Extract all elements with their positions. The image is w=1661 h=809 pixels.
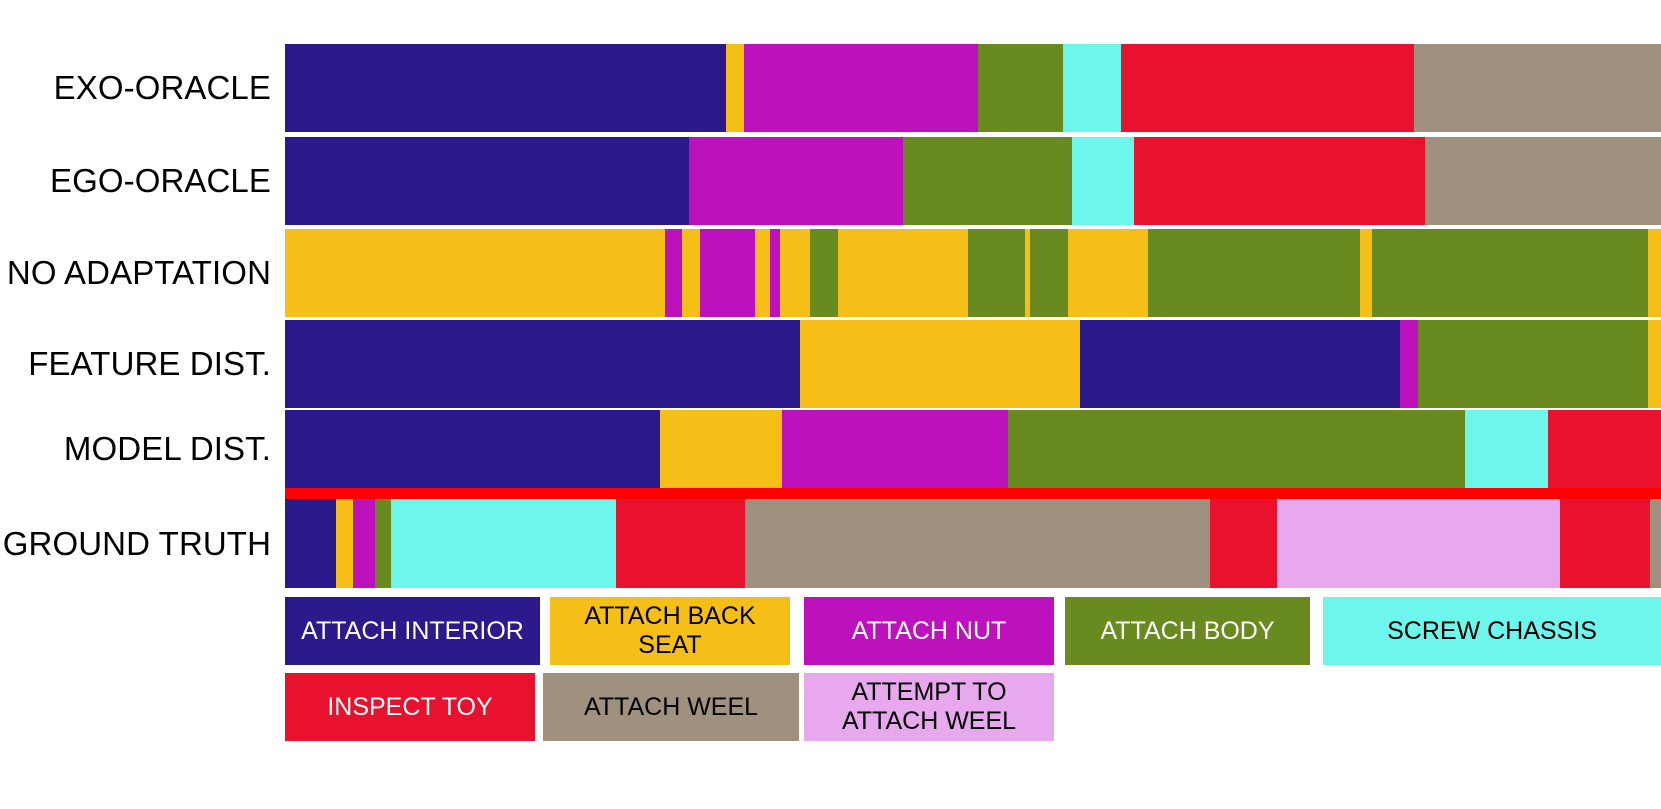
timeline-row: GROUND TRUTH <box>0 499 1661 588</box>
row-label-ego-oracle: EGO-ORACLE <box>50 137 285 225</box>
segment-inspect-toy <box>1134 137 1425 225</box>
segment-inspect-toy <box>616 499 745 588</box>
timeline-row: EGO-ORACLE <box>0 137 1661 225</box>
segment-attach-back-seat <box>1360 229 1372 317</box>
segment-attach-back-seat <box>800 320 1080 408</box>
segment-attach-body <box>1008 410 1465 488</box>
segment-attach-back-seat <box>1648 320 1661 408</box>
row-label-exo-oracle: EXO-ORACLE <box>54 44 285 132</box>
segment-inspect-toy <box>1121 44 1414 132</box>
row-label-ground-truth: GROUND TRUTH <box>3 499 285 588</box>
segment-attach-nut <box>744 44 978 132</box>
timeline-row: NO ADAPTATION <box>0 229 1661 317</box>
timeline-row: FEATURE DIST. <box>0 320 1661 408</box>
legend-item-screw-chassis[interactable]: SCREW CHASSIS <box>1323 597 1661 665</box>
segment-attach-body <box>1372 229 1648 317</box>
legend-item-attempt-to-attach-weel[interactable]: ATTEMPT TO ATTACH WEEL <box>804 673 1054 741</box>
segment-attach-nut <box>1400 320 1418 408</box>
segment-screw-chassis <box>1465 410 1548 488</box>
segment-attach-nut <box>689 137 903 225</box>
segment-attach-interior <box>285 499 336 588</box>
segment-attach-weel <box>1414 44 1661 132</box>
row-label-model-dist: MODEL DIST. <box>64 410 285 488</box>
ground-truth-divider <box>285 488 1661 499</box>
legend-row-1: ATTACH INTERIORATTACH BACK SEATATTACH NU… <box>285 597 1661 665</box>
segment-attach-nut <box>770 229 780 317</box>
segment-attach-body <box>1030 229 1068 317</box>
segment-attach-back-seat <box>682 229 700 317</box>
segment-attach-back-seat <box>755 229 770 317</box>
timeline-row: EXO-ORACLE <box>0 44 1661 132</box>
segment-attach-nut <box>665 229 682 317</box>
segment-screw-chassis <box>1063 44 1121 132</box>
segment-attach-back-seat <box>838 229 968 317</box>
segment-attach-nut <box>782 410 1008 488</box>
timeline-row: MODEL DIST. <box>0 410 1661 488</box>
segment-inspect-toy <box>1548 410 1661 488</box>
legend-row-2: INSPECT TOYATTACH WEELATTEMPT TO ATTACH … <box>285 673 1661 741</box>
segment-attach-interior <box>285 137 689 225</box>
segment-attach-body <box>978 44 1063 132</box>
segment-attach-body <box>1148 229 1360 317</box>
legend-item-attach-interior[interactable]: ATTACH INTERIOR <box>285 597 540 665</box>
legend-item-inspect-toy[interactable]: INSPECT TOY <box>285 673 535 741</box>
segment-attach-interior <box>1080 320 1400 408</box>
segment-attach-body <box>375 499 391 588</box>
segment-attach-nut <box>353 499 375 588</box>
timeline-track <box>285 137 1661 225</box>
action-segmentation-chart: EXO-ORACLEEGO-ORACLENO ADAPTATIONFEATURE… <box>0 0 1661 595</box>
segment-attach-weel <box>745 499 1210 588</box>
segment-screw-chassis <box>391 499 616 588</box>
segment-attach-back-seat <box>1648 229 1661 317</box>
segment-attach-back-seat <box>285 229 665 317</box>
segment-attach-back-seat <box>780 229 810 317</box>
timeline-track <box>285 320 1661 408</box>
segment-attach-body <box>1418 320 1648 408</box>
segment-inspect-toy <box>1560 499 1650 588</box>
legend-item-attach-nut[interactable]: ATTACH NUT <box>804 597 1054 665</box>
timeline-track <box>285 410 1661 488</box>
timeline-track <box>285 44 1661 132</box>
timeline-track <box>285 229 1661 317</box>
segment-attach-back-seat <box>726 44 744 132</box>
segment-attach-interior <box>285 410 660 488</box>
segment-attach-back-seat <box>660 410 782 488</box>
segment-attach-weel <box>1425 137 1661 225</box>
segment-attach-body <box>968 229 1025 317</box>
segment-attach-weel <box>1650 499 1661 588</box>
row-label-feature-dist: FEATURE DIST. <box>28 320 285 408</box>
figure-root: EXO-ORACLEEGO-ORACLENO ADAPTATIONFEATURE… <box>0 0 1661 809</box>
segment-attempt-to-attach-weel <box>1277 499 1560 588</box>
legend-item-attach-weel[interactable]: ATTACH WEEL <box>543 673 799 741</box>
timeline-track <box>285 499 1661 588</box>
segment-attach-body <box>810 229 838 317</box>
segment-inspect-toy <box>1210 499 1277 588</box>
segment-attach-nut <box>700 229 755 317</box>
legend-item-attach-back-seat[interactable]: ATTACH BACK SEAT <box>550 597 790 665</box>
row-label-no-adaptation: NO ADAPTATION <box>7 229 285 317</box>
segment-attach-back-seat <box>336 499 353 588</box>
segment-attach-interior <box>285 320 800 408</box>
segment-screw-chassis <box>1072 137 1134 225</box>
segment-attach-body <box>903 137 1072 225</box>
legend-item-attach-body[interactable]: ATTACH BODY <box>1065 597 1310 665</box>
segment-attach-interior <box>285 44 726 132</box>
segment-attach-back-seat <box>1068 229 1148 317</box>
